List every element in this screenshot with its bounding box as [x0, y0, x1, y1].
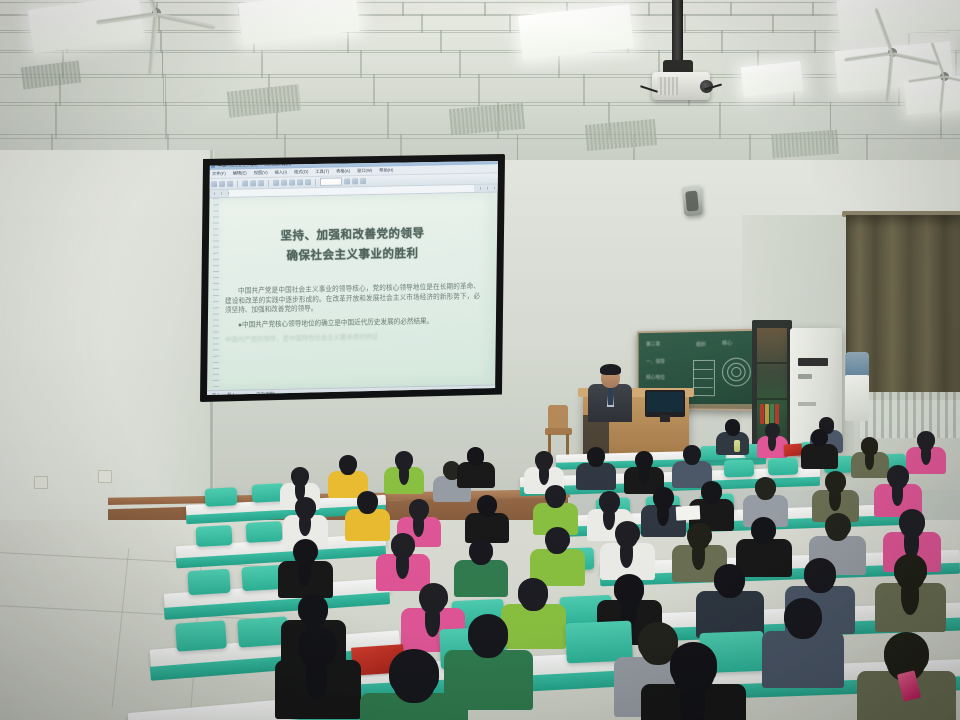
student-hair: [811, 429, 828, 445]
student-torso: [716, 432, 749, 455]
menu-file[interactable]: 文件(F): [212, 171, 226, 177]
chalk-box-line: [693, 369, 713, 370]
status-page: 页 1: [212, 392, 219, 395]
student-hair: [477, 495, 497, 514]
ceiling-light-panel: [741, 61, 804, 97]
student-hair: [469, 539, 493, 562]
notebook-paper: [676, 505, 701, 520]
student-hair: [884, 632, 929, 675]
toolbar-separator: [315, 179, 316, 186]
student-torso: [736, 539, 792, 577]
student-torso: [501, 604, 566, 648]
student-torso: [762, 631, 845, 688]
floor-tile-line: [112, 548, 130, 707]
new-icon[interactable]: [211, 181, 217, 187]
ceiling-air-vent: [771, 130, 839, 159]
paste-icon[interactable]: [289, 179, 295, 185]
student-hair: [714, 564, 745, 593]
wooden-chair-back: [548, 405, 568, 430]
student-hair: [468, 614, 509, 653]
projected-document-window: 中国特色社会主义理论 — Microsoft Word 文件(F) 编辑(E) …: [207, 161, 498, 395]
spellcheck-icon[interactable]: [258, 180, 264, 186]
window-icon: [211, 163, 215, 167]
student-ponytail: [680, 680, 706, 720]
red-textbook: [784, 443, 803, 456]
toolbar-separator: [268, 179, 269, 186]
student-chair: [187, 569, 230, 596]
student-hair: [587, 447, 605, 464]
projector-mount-pole: [672, 0, 683, 64]
radiator: [860, 392, 960, 438]
student-chair: [768, 457, 799, 475]
student-hair: [804, 558, 836, 588]
undo-icon[interactable]: [297, 179, 303, 185]
student-chair: [246, 521, 283, 543]
chalk-diagram-label-2: 核心: [722, 339, 732, 346]
menu-help[interactable]: 帮助(H): [379, 167, 393, 173]
student-hair: [339, 455, 357, 472]
chalk-box-line: [693, 378, 713, 379]
student-ponytail: [603, 508, 614, 531]
document-page: 坚持、加强和改善党的领导 确保社会主义事业的胜利 中国共产党是中国社会主义事业的…: [213, 193, 492, 391]
student-chair: [175, 620, 227, 651]
ac-control-panel[interactable]: [798, 374, 812, 379]
student-hair: [755, 477, 776, 497]
student-chair: [724, 459, 755, 477]
projection-screen: 中国特色社会主义理论 — Microsoft Word 文件(F) 编辑(E) …: [200, 154, 505, 402]
student-torso: [457, 462, 495, 488]
student-hair: [701, 481, 722, 501]
cabinet-book: [760, 404, 764, 424]
student-ponytail: [399, 465, 409, 485]
ac-logo: [798, 402, 816, 406]
chalk-note-1: 第三章: [646, 341, 660, 348]
water-dispenser[interactable]: [845, 375, 869, 421]
student-hair: [751, 517, 777, 541]
preview-icon[interactable]: [250, 180, 256, 186]
ceiling: [0, 0, 960, 172]
student-chair: [196, 525, 233, 547]
italic-icon[interactable]: [352, 178, 358, 184]
student-hair: [784, 598, 822, 634]
cabinet-book: [775, 404, 779, 424]
student-ponytail: [921, 445, 931, 465]
student-ponytail: [657, 504, 668, 527]
slide-faint-line: 中国共产党的领导，是中国特色社会主义最本质的特征: [225, 330, 480, 344]
student-hair: [725, 419, 740, 433]
student-hair: [545, 485, 566, 505]
power-outlet: [98, 470, 112, 483]
student-hair: [545, 527, 570, 551]
status-language: 中文(中国): [256, 391, 275, 395]
chalk-diagram-label-1: 组织: [696, 341, 706, 348]
water-bottle-desk: [734, 440, 740, 452]
chalk-note-2: 一、领导: [646, 358, 665, 365]
student-hair: [518, 578, 548, 606]
chalk-note-3: 核心地位: [646, 374, 665, 381]
lecturer-hair: [600, 364, 621, 375]
student-torso: [801, 444, 838, 469]
student-ponytail: [768, 435, 776, 451]
menu-view[interactable]: 视图(V): [254, 170, 268, 176]
lecture-hall-photo: 中国特色社会主义理论 — Microsoft Word 文件(F) 编辑(E) …: [0, 0, 960, 720]
window-title: 中国特色社会主义理论 — Microsoft Word: [218, 161, 291, 168]
chalk-circle-inner: [731, 367, 741, 377]
student-ponytail: [539, 465, 549, 485]
bold-icon[interactable]: [344, 178, 350, 184]
menu-insert[interactable]: 插入(I): [275, 169, 287, 175]
wall-speaker: [682, 185, 704, 217]
student-hair: [825, 513, 851, 538]
chalk-box-line: [693, 387, 713, 388]
student-hair: [357, 491, 378, 511]
student-ponytail: [396, 552, 409, 578]
podium-monitor: [645, 390, 685, 417]
cabinet-book: [765, 404, 769, 424]
student-torso: [465, 513, 510, 543]
status-section: 节 1: [227, 392, 234, 395]
lecturer-tie: [608, 388, 613, 405]
slide-bullet-point: ●中国共产党核心领导地位的确立是中国近代历史发展的必然结果。: [225, 316, 480, 331]
menu-table[interactable]: 表格(A): [336, 168, 350, 174]
menu-window[interactable]: 窗口(W): [357, 168, 372, 174]
menu-edit[interactable]: 编辑(E): [233, 170, 247, 176]
monitor-stand: [660, 415, 670, 422]
cabinet-shelf: [757, 362, 787, 364]
font-name-box[interactable]: [320, 177, 342, 186]
slide-title-line-2: 确保社会主义事业的胜利: [213, 243, 492, 265]
redo-icon[interactable]: [305, 179, 311, 185]
student-torso: [576, 463, 615, 490]
print-icon[interactable]: [242, 180, 248, 186]
wooden-chair-leg: [566, 434, 569, 456]
slide-paragraph: 中国共产党是中国社会主义事业的领导核心，党的核心领导地位是在长期的革命、建设和改…: [225, 282, 480, 316]
underline-icon[interactable]: [360, 178, 366, 184]
menu-tools[interactable]: 工具(T): [315, 169, 329, 175]
save-icon[interactable]: [227, 181, 233, 187]
status-pagecount: 1/1: [243, 392, 249, 395]
slide-title-line-1: 坚持、加强和改善党的领导: [213, 223, 492, 245]
cabinet-book: [770, 404, 774, 424]
cabinet-shelf: [757, 398, 787, 400]
student-torso: [454, 560, 508, 597]
student-ponytail: [299, 514, 310, 537]
student-hair: [389, 649, 438, 696]
toolbar-separator: [237, 180, 238, 187]
power-outlet: [34, 476, 48, 489]
copy-icon[interactable]: [281, 180, 287, 186]
student-hair: [467, 447, 484, 464]
student-ponytail: [865, 451, 874, 470]
student-hair: [683, 445, 701, 462]
menu-format[interactable]: 格式(O): [294, 169, 308, 175]
open-icon[interactable]: [219, 181, 225, 187]
ac-vent: [798, 358, 828, 366]
student-torso: [345, 509, 391, 540]
cut-icon[interactable]: [273, 180, 279, 186]
student-ponytail: [901, 580, 918, 615]
student-chair: [205, 487, 238, 507]
vertical-ruler: [213, 198, 219, 390]
student-ponytail: [639, 465, 649, 485]
